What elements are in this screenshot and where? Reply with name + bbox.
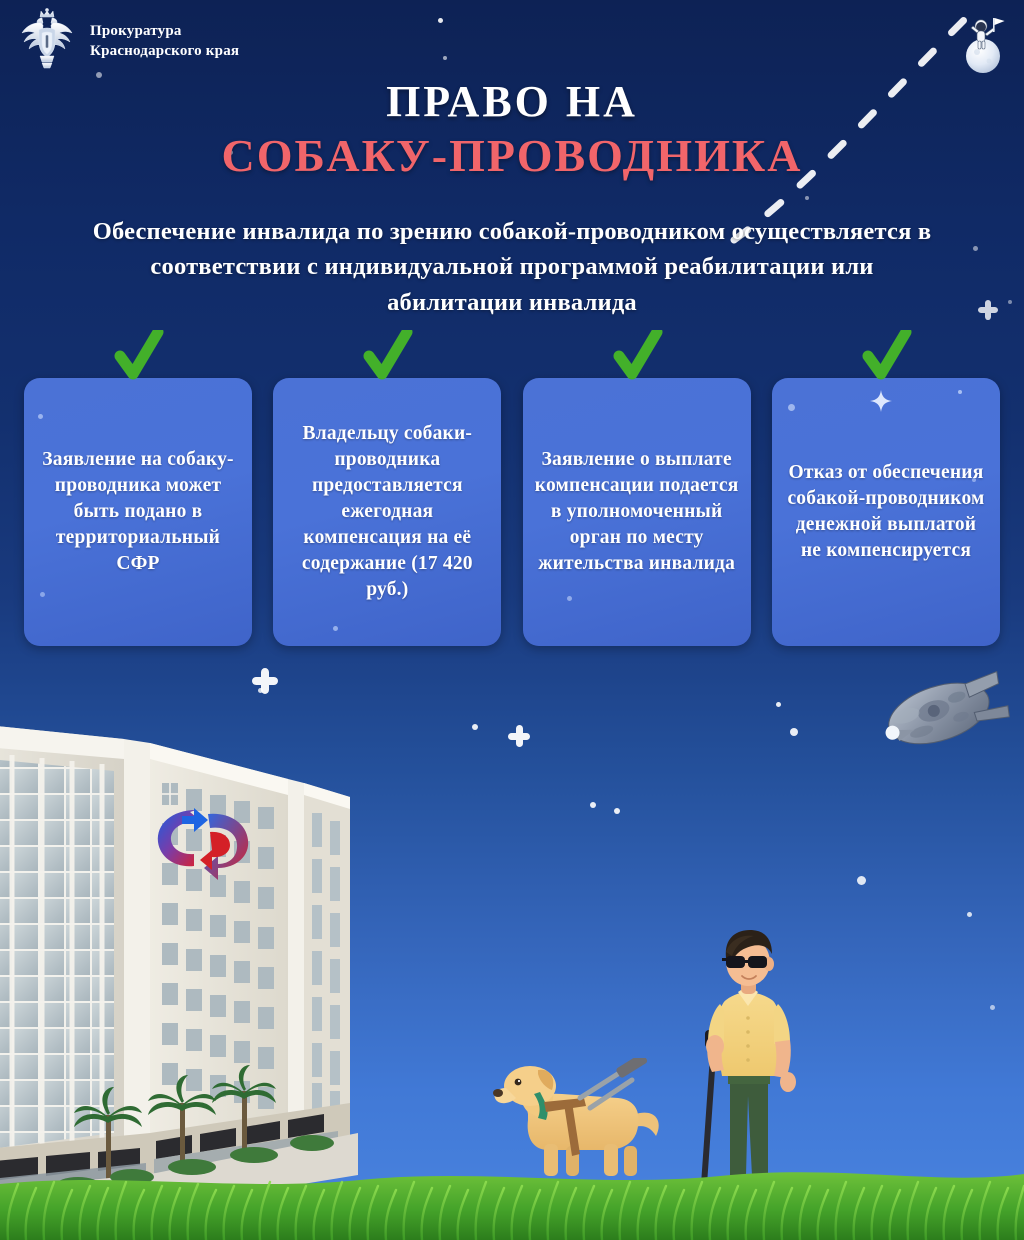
sparkle-star (870, 390, 892, 412)
green-check-icon (860, 330, 912, 382)
card: Владельцу собаки-проводника предоставляе… (273, 378, 501, 646)
title-line-2: СОБАКУ-ПРОВОДНИКА (0, 130, 1024, 182)
star (38, 414, 43, 419)
star (990, 1005, 995, 1010)
star (443, 56, 447, 60)
star (967, 912, 972, 917)
subtitle: Обеспечение инвалида по зрению собакой-п… (92, 214, 932, 320)
header: Прокуратура Краснодарского края (18, 8, 239, 74)
green-check-icon (361, 330, 413, 382)
card-refusal-no-compensation: Отказ от обеспечения собакой-проводником… (772, 378, 1000, 646)
millennium-falcon-icon (876, 662, 1010, 758)
star (472, 724, 478, 730)
card-application-sfr: Заявление на собаку-проводника может быт… (24, 378, 252, 646)
astronaut-on-moon-icon (954, 12, 1012, 74)
star (805, 196, 809, 200)
star (776, 702, 781, 707)
star (790, 728, 798, 736)
title-line-1: ПРАВО НА (0, 78, 1024, 126)
card: Заявление на собаку-проводника может быт… (24, 378, 252, 646)
page-title: ПРАВО НА СОБАКУ-ПРОВОДНИКА (0, 78, 1024, 181)
star (40, 592, 45, 597)
star (958, 390, 962, 394)
card-annual-compensation: Владельцу собаки-проводника предоставляе… (273, 378, 501, 646)
star (788, 404, 795, 411)
star (333, 626, 338, 631)
card-payment-application: Заявление о выплате компенсации подается… (523, 378, 751, 646)
green-check-icon (112, 330, 164, 382)
org-name-line2: Краснодарского края (90, 41, 239, 61)
org-name: Прокуратура Краснодарского края (90, 21, 239, 62)
sfr-logo (142, 798, 270, 890)
star (567, 596, 572, 601)
card: Заявление о выплате компенсации подается… (523, 378, 751, 646)
star (614, 808, 620, 814)
green-check-icon (611, 330, 663, 382)
sparkle-star (978, 300, 998, 320)
card-text: Заявление о выплате компенсации подается… (535, 447, 739, 578)
prosecutor-eagle-emblem-icon (18, 8, 76, 74)
grass-foreground (0, 1144, 1024, 1240)
card-text: Заявление на собаку-проводника может быт… (36, 447, 240, 578)
sfr-office-building (0, 663, 358, 1208)
star (590, 802, 596, 808)
card-text: Владельцу собаки-проводника предоставляе… (285, 421, 489, 604)
star (1008, 300, 1012, 304)
cards-row: Заявление на собаку-проводника может быт… (24, 378, 1000, 646)
star (973, 246, 978, 251)
sparkle-star (508, 725, 530, 747)
star (857, 876, 866, 885)
card-text: Отказ от обеспечения собакой-проводником… (784, 460, 988, 565)
card: Отказ от обеспечения собакой-проводником… (772, 378, 1000, 646)
infographic-poster: Прокуратура Краснодарского края ПРАВО НА… (0, 0, 1024, 1240)
star (438, 18, 443, 23)
org-name-line1: Прокуратура (90, 21, 239, 41)
